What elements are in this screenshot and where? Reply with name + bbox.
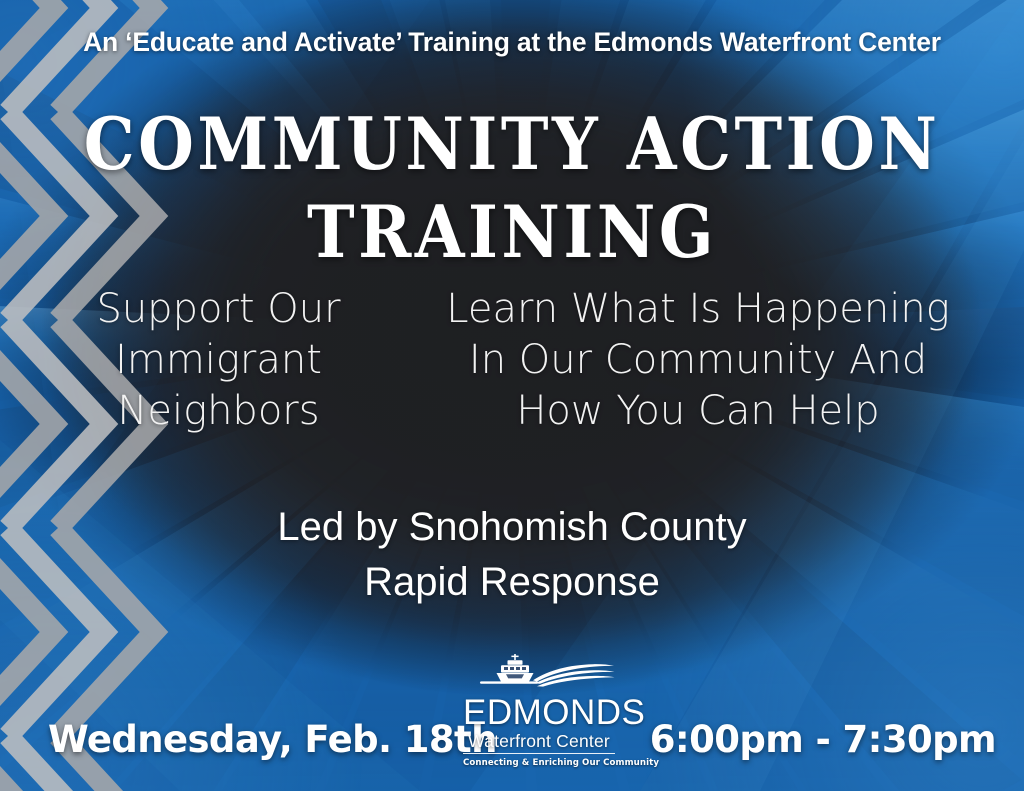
event-time: 6:00pm - 7:30pm bbox=[650, 718, 996, 761]
col-left-line-1: Support Our bbox=[54, 284, 384, 335]
col-left-line-2: Immigrant bbox=[54, 335, 384, 386]
logo-name: EDMONDS bbox=[463, 695, 615, 730]
column-support-immigrants: Support Our Immigrant Neighbors bbox=[54, 284, 384, 437]
header-tagline: An ‘Educate and Activate’ Training at th… bbox=[0, 27, 1024, 58]
benefits-columns: Support Our Immigrant Neighbors Learn Wh… bbox=[0, 284, 1024, 437]
col-right-line-2: In Our Community And bbox=[426, 335, 971, 386]
event-flyer: An ‘Educate and Activate’ Training at th… bbox=[0, 0, 1024, 791]
edmonds-waterfront-center-logo: EDMONDS Waterfront Center Connecting & E… bbox=[463, 653, 615, 769]
col-left-line-3: Neighbors bbox=[54, 386, 384, 437]
title-line-2: TRAINING bbox=[0, 184, 1024, 283]
logo-tagline: Connecting & Enriching Our Community bbox=[463, 757, 615, 769]
logo-subtitle: Waterfront Center bbox=[463, 731, 615, 754]
event-date: Wednesday, Feb. 18th bbox=[48, 718, 497, 761]
page-title: COMMUNITY ACTION TRAINING bbox=[0, 96, 1024, 272]
led-by-text: Led by Snohomish County Rapid Response bbox=[0, 500, 1024, 610]
column-learn-what-is-happening: Learn What Is Happening In Our Community… bbox=[426, 284, 971, 437]
led-by-line-1: Led by Snohomish County bbox=[0, 500, 1024, 555]
title-line-1: COMMUNITY ACTION bbox=[0, 96, 1024, 195]
flyer-content: An ‘Educate and Activate’ Training at th… bbox=[0, 0, 1024, 791]
ferry-boat-waves-icon bbox=[463, 653, 615, 697]
col-right-line-3: How You Can Help bbox=[426, 386, 971, 437]
led-by-line-2: Rapid Response bbox=[0, 555, 1024, 610]
col-right-line-1: Learn What Is Happening bbox=[426, 284, 971, 335]
